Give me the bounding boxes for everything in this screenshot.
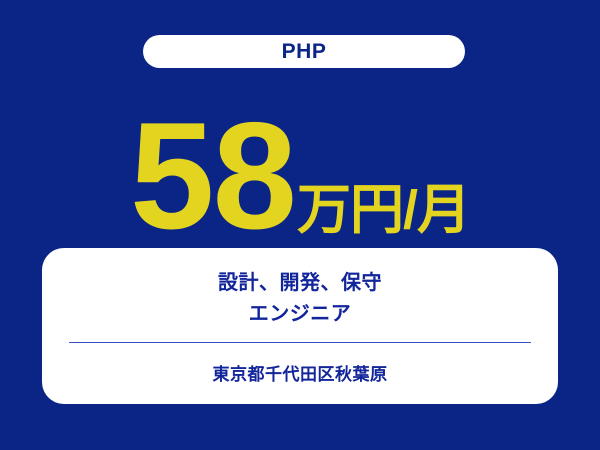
job-role-line-2: エンジニア [218,299,382,330]
job-location: 東京都千代田区秋葉原 [213,366,388,383]
price-block: 58 万円/月 [0,100,600,230]
card-divider [69,342,531,343]
job-role-title: 設計、開発、保守 エンジニア [218,268,382,330]
job-detail-card: 設計、開発、保守 エンジニア 東京都千代田区秋葉原 [42,248,558,404]
language-badge-label: PHP [282,41,327,62]
price-amount: 58 [130,100,295,252]
job-offer-poster: PHP 58 万円/月 設計、開発、保守 エンジニア 東京都千代田区秋葉原 [0,0,600,450]
price-unit: 万円/月 [297,183,470,237]
job-role-line-1: 設計、開発、保守 [218,268,382,299]
language-badge: PHP [143,35,465,68]
